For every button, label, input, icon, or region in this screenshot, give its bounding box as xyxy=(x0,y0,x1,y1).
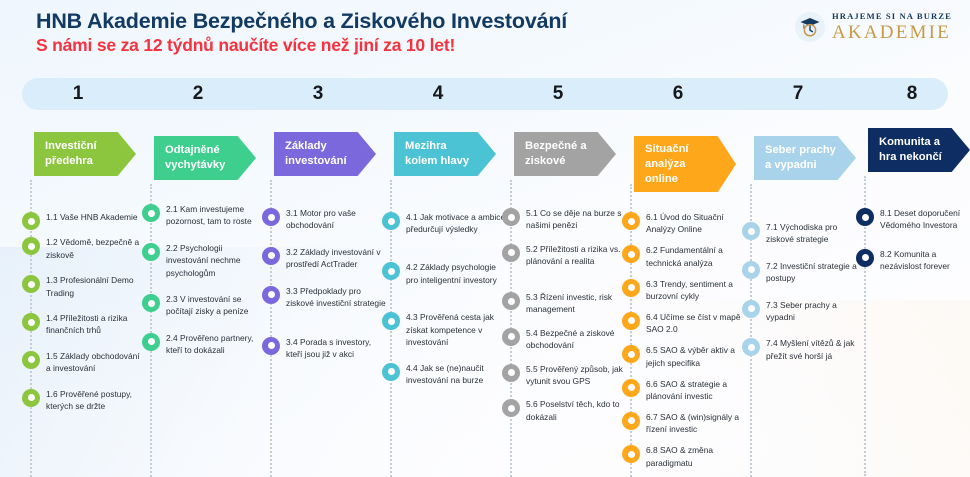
lesson-label: 3.3 Předpoklady pro ziskové investiční s… xyxy=(286,285,386,310)
lesson-bullet-icon xyxy=(22,389,40,407)
lesson-label: 2.4 Prověřeno partnery, kteří to dokázal… xyxy=(166,332,266,357)
lesson-bullet-icon xyxy=(742,338,760,356)
logo-tagline: HRAJEME SI NA BURZE xyxy=(832,12,952,21)
lesson-label: 6.6 SAO & strategie a plánování investic xyxy=(646,378,746,403)
lesson-bullet-icon xyxy=(262,208,280,226)
lesson-bullet-icon xyxy=(622,345,640,363)
week-number-6: 6 xyxy=(658,83,698,105)
lesson-label: 2.2 Psychologii investování nechme psych… xyxy=(166,242,266,279)
lesson-bullet-icon xyxy=(622,412,640,430)
lesson-bullet-icon xyxy=(382,363,400,381)
brand-logo: HRAJEME SI NA BURZE AKADEMIE xyxy=(795,12,952,42)
curriculum-columns: Investiční předehra1.1 Vaše HNB Akademie… xyxy=(0,118,970,477)
lesson-bullet-icon xyxy=(502,208,520,226)
week-number-7: 7 xyxy=(778,83,818,105)
lesson-label: 6.7 SAO & (win)signály a řízení investic xyxy=(646,411,746,436)
week-number-8: 8 xyxy=(892,83,932,105)
lesson-bullet-icon xyxy=(22,351,40,369)
lesson-bullet-icon xyxy=(502,328,520,346)
lesson-bullet-icon xyxy=(622,245,640,263)
timeline-dotted-line xyxy=(150,184,152,477)
lesson-bullet-icon xyxy=(22,237,40,255)
lesson-label: 6.5 SAO & výběr aktiv a jejich specifika xyxy=(646,344,746,369)
lesson-label: 6.8 SAO & změna paradigmatu xyxy=(646,444,746,469)
lesson-label: 5.1 Co se děje na burze s našimi penězi xyxy=(526,207,626,232)
lesson-label: 1.1 Vaše HNB Akademie xyxy=(46,211,146,223)
lesson-label: 6.1 Úvod do Situační Analýzy Online xyxy=(646,211,746,236)
lesson-label: 3.2 Základy investování v prostředí ActT… xyxy=(286,246,386,271)
lesson-bullet-icon xyxy=(22,275,40,293)
lesson-label: 5.6 Poselství těch, kdo to dokázali xyxy=(526,398,626,423)
page-header: HNB Akademie Bezpečného a Ziskového Inve… xyxy=(0,0,970,72)
lesson-bullet-icon xyxy=(856,208,874,226)
lesson-bullet-icon xyxy=(382,262,400,280)
lesson-bullet-icon xyxy=(502,244,520,262)
lesson-bullet-icon xyxy=(502,292,520,310)
page-subtitle: S námi se za 12 týdnů naučíte více než j… xyxy=(36,35,455,56)
lesson-label: 5.5 Prověřený způsob, jak vytunit svou G… xyxy=(526,363,626,388)
module-header-6[interactable]: Situační analýza online xyxy=(634,136,736,192)
lesson-label: 1.4 Příležitosti a rizika finančních trh… xyxy=(46,312,146,337)
page-title: HNB Akademie Bezpečného a Ziskového Inve… xyxy=(36,9,567,34)
lesson-label: 6.4 Učíme se číst v mapě SAO 2.0 xyxy=(646,311,746,336)
lesson-bullet-icon xyxy=(622,445,640,463)
lesson-bullet-icon xyxy=(622,379,640,397)
lesson-bullet-icon xyxy=(502,399,520,417)
lesson-bullet-icon xyxy=(262,286,280,304)
lesson-label: 3.4 Porada s investory, kteří jsou již v… xyxy=(286,336,386,361)
lesson-bullet-icon xyxy=(142,333,160,351)
lesson-label: 6.2 Fundamentální a technická analýza xyxy=(646,244,746,269)
lesson-bullet-icon xyxy=(622,312,640,330)
lesson-label: 5.2 Příležitosti a rizika vs. plánování … xyxy=(526,243,626,268)
module-header-7[interactable]: Seber prachy a vypadni xyxy=(754,136,856,180)
module-header-8[interactable]: Komunita a hra nekončí xyxy=(868,128,970,172)
lesson-bullet-icon xyxy=(382,212,400,230)
lesson-label: 2.1 Kam investujeme pozornost, tam to ro… xyxy=(166,203,266,228)
lesson-bullet-icon xyxy=(742,222,760,240)
lesson-bullet-icon xyxy=(142,243,160,261)
lesson-label: 4.1 Jak motivace a ambice předurčují výs… xyxy=(406,211,506,236)
module-header-3[interactable]: Základy investování xyxy=(274,132,376,176)
lesson-label: 5.3 Řízení investic, risk management xyxy=(526,291,626,316)
lesson-label: 1.3 Profesionální Demo Trading xyxy=(46,274,146,299)
lesson-label: 4.4 Jak se (ne)naučit investování na bur… xyxy=(406,362,506,387)
lesson-label: 8.1 Deset doporučení Vědomého Investora xyxy=(880,207,970,232)
week-number-bar: 12345678 xyxy=(22,78,948,110)
lesson-bullet-icon xyxy=(622,212,640,230)
week-number-1: 1 xyxy=(58,83,98,105)
lesson-label: 2.3 V investování se počítají zisky a pe… xyxy=(166,293,266,318)
lesson-label: 7.1 Východiska pro ziskové strategie xyxy=(766,221,866,246)
week-number-5: 5 xyxy=(538,83,578,105)
module-header-4[interactable]: Mezihra kolem hlavy xyxy=(394,132,496,176)
lesson-label: 1.2 Vědomě, bezpečně a ziskově xyxy=(46,236,146,261)
lesson-bullet-icon xyxy=(742,261,760,279)
logo-name: AKADEMIE xyxy=(832,23,952,42)
lesson-bullet-icon xyxy=(142,204,160,222)
module-header-1[interactable]: Investiční předehra xyxy=(34,132,136,176)
lesson-bullet-icon xyxy=(22,212,40,230)
lesson-label: 8.2 Komunita a nezávislost forever xyxy=(880,248,970,273)
week-number-3: 3 xyxy=(298,83,338,105)
graduation-cap-icon xyxy=(795,12,825,42)
module-header-2[interactable]: Odtajněné vychytávky xyxy=(154,136,256,180)
lesson-bullet-icon xyxy=(262,337,280,355)
module-header-5[interactable]: Bezpečné a ziskové xyxy=(514,132,616,176)
lesson-bullet-icon xyxy=(382,312,400,330)
lesson-label: 7.3 Seber prachy a vypadni xyxy=(766,299,866,324)
lesson-bullet-icon xyxy=(22,313,40,331)
lesson-label: 1.5 Základy obchodování a investování xyxy=(46,350,146,375)
lesson-bullet-icon xyxy=(502,364,520,382)
week-number-2: 2 xyxy=(178,83,218,105)
logo-wordmark: HRAJEME SI NA BURZE AKADEMIE xyxy=(832,12,952,42)
lesson-label: 5.4 Bezpečné a ziskové obchodování xyxy=(526,327,626,352)
week-number-4: 4 xyxy=(418,83,458,105)
lesson-label: 1.6 Prověřené postupy, kterých se držte xyxy=(46,388,146,413)
lesson-label: 4.2 Základy psychologie pro inteligentní… xyxy=(406,261,506,286)
lesson-label: 4.3 Prověřená cesta jak získat kompetenc… xyxy=(406,311,506,348)
lesson-bullet-icon xyxy=(856,249,874,267)
lesson-label: 7.2 Investiční strategie a postupy xyxy=(766,260,866,285)
lesson-bullet-icon xyxy=(142,294,160,312)
lesson-bullet-icon xyxy=(622,279,640,297)
lesson-label: 3.1 Motor pro vaše obchodování xyxy=(286,207,386,232)
lesson-label: 7.4 Myšlení vítězů & jak přežít své horš… xyxy=(766,337,866,362)
lesson-bullet-icon xyxy=(742,300,760,318)
lesson-bullet-icon xyxy=(262,247,280,265)
lesson-label: 6.3 Trendy, sentiment a burzovní cykly xyxy=(646,278,746,303)
